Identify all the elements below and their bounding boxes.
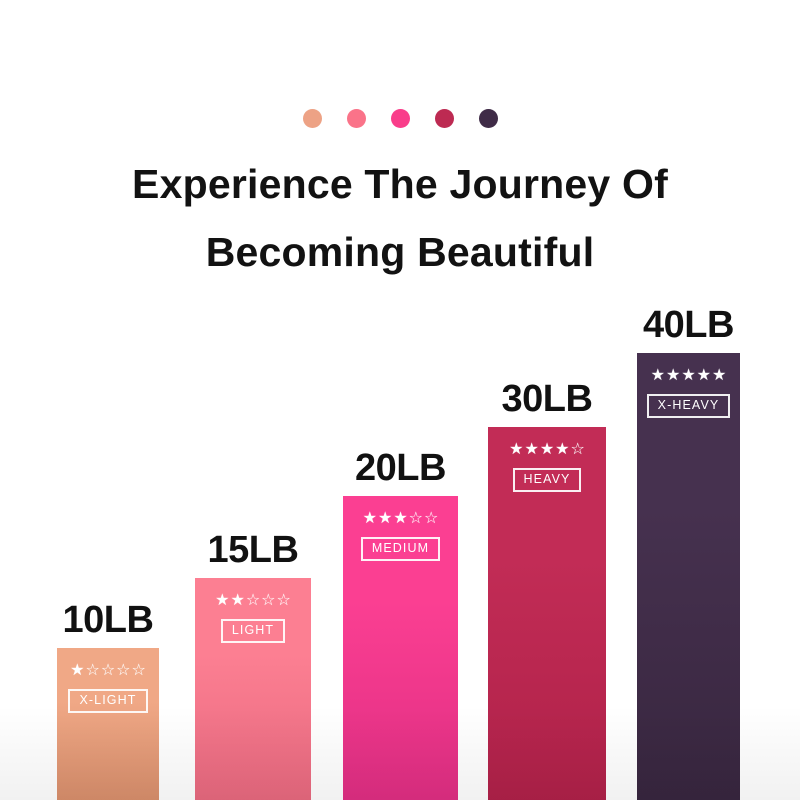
bar-group: 15LB★★☆☆☆LIGHT xyxy=(195,578,311,800)
star-rating: ★★★★★ xyxy=(651,368,727,384)
bar-group: 30LB★★★★☆HEAVY xyxy=(488,427,606,800)
star-filled-icon: ★ xyxy=(712,368,726,384)
star-rating: ★★☆☆☆ xyxy=(215,593,291,609)
star-filled-icon: ★ xyxy=(230,593,244,609)
star-filled-icon: ★ xyxy=(363,511,377,527)
star-filled-icon: ★ xyxy=(555,442,569,458)
bar-weight-label: 10LB xyxy=(63,599,154,642)
star-filled-icon: ★ xyxy=(70,663,84,679)
star-empty-icon: ☆ xyxy=(132,663,146,679)
star-empty-icon: ☆ xyxy=(424,511,438,527)
bar-rect: ★★★☆☆MEDIUM xyxy=(343,496,458,800)
bar-rect: ★★★★★X-HEAVY xyxy=(637,353,740,800)
star-filled-icon: ★ xyxy=(666,368,680,384)
resistance-level-badge: X-LIGHT xyxy=(68,689,147,713)
bar-content: ★★★★★X-HEAVY xyxy=(637,353,740,418)
bar-content: ★☆☆☆☆X-LIGHT xyxy=(57,648,159,713)
star-filled-icon: ★ xyxy=(524,442,538,458)
star-filled-icon: ★ xyxy=(681,368,695,384)
star-filled-icon: ★ xyxy=(393,511,407,527)
bar-group: 40LB★★★★★X-HEAVY xyxy=(637,353,740,800)
bar-rect: ★☆☆☆☆X-LIGHT xyxy=(57,648,159,800)
promo-graphic: Experience The Journey Of Becoming Beaut… xyxy=(0,0,800,800)
bar-content: ★★★★☆HEAVY xyxy=(488,427,606,492)
star-filled-icon: ★ xyxy=(540,442,554,458)
bar-weight-label: 40LB xyxy=(643,304,734,347)
star-empty-icon: ☆ xyxy=(246,593,260,609)
bar-rect: ★★☆☆☆LIGHT xyxy=(195,578,311,800)
resistance-level-badge: X-HEAVY xyxy=(647,394,731,418)
star-empty-icon: ☆ xyxy=(85,663,99,679)
bar-group: 10LB★☆☆☆☆X-LIGHT xyxy=(57,648,159,800)
bar-weight-label: 15LB xyxy=(208,529,299,572)
bar-group: 20LB★★★☆☆MEDIUM xyxy=(343,496,458,800)
bar-content: ★★★☆☆MEDIUM xyxy=(343,496,458,561)
resistance-level-badge: HEAVY xyxy=(513,468,582,492)
star-rating: ★★★☆☆ xyxy=(363,511,439,527)
star-empty-icon: ☆ xyxy=(277,593,291,609)
resistance-level-badge: MEDIUM xyxy=(361,537,440,561)
star-empty-icon: ☆ xyxy=(116,663,130,679)
resistance-band-bar-chart: 10LB★☆☆☆☆X-LIGHT15LB★★☆☆☆LIGHT20LB★★★☆☆M… xyxy=(0,0,800,800)
bar-rect: ★★★★☆HEAVY xyxy=(488,427,606,800)
bar-content: ★★☆☆☆LIGHT xyxy=(195,578,311,643)
bar-weight-label: 30LB xyxy=(502,378,593,421)
star-empty-icon: ☆ xyxy=(409,511,423,527)
star-filled-icon: ★ xyxy=(378,511,392,527)
star-rating: ★★★★☆ xyxy=(509,442,585,458)
star-rating: ★☆☆☆☆ xyxy=(70,663,146,679)
star-filled-icon: ★ xyxy=(215,593,229,609)
star-filled-icon: ★ xyxy=(697,368,711,384)
star-filled-icon: ★ xyxy=(509,442,523,458)
star-empty-icon: ☆ xyxy=(261,593,275,609)
star-empty-icon: ☆ xyxy=(101,663,115,679)
star-empty-icon: ☆ xyxy=(571,442,585,458)
bar-weight-label: 20LB xyxy=(355,447,446,490)
resistance-level-badge: LIGHT xyxy=(221,619,285,643)
star-filled-icon: ★ xyxy=(651,368,665,384)
